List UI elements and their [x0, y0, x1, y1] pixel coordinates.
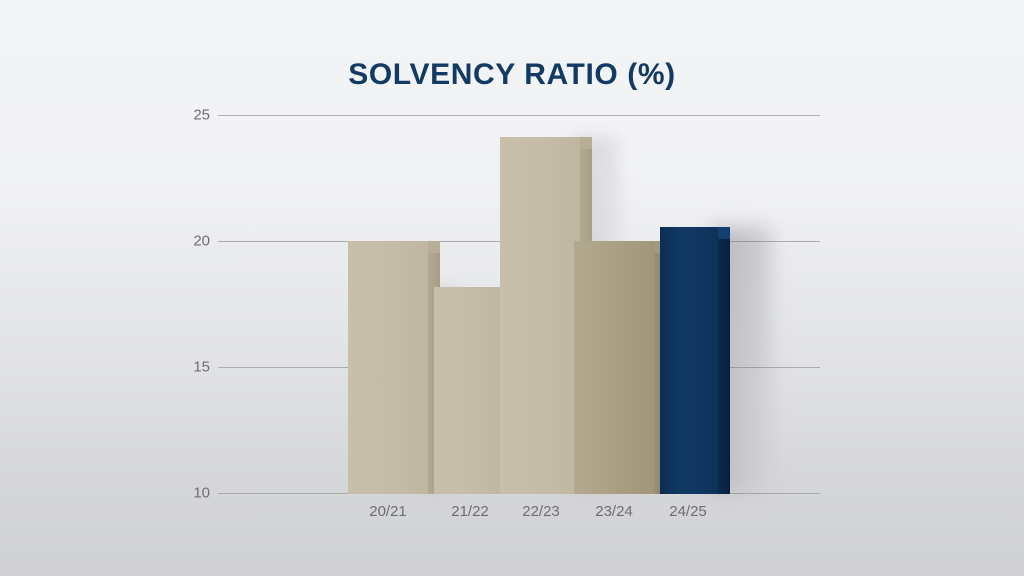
x-tick-label-21-22: 21/22	[451, 503, 489, 520]
bar-face	[660, 227, 718, 494]
plot-area	[218, 115, 820, 493]
bar-24-25[interactable]	[660, 227, 730, 494]
y-tick-label-15: 15	[193, 359, 210, 376]
bar-top	[428, 241, 440, 253]
y-tick-label-10: 10	[193, 485, 210, 502]
bar-top	[718, 227, 730, 239]
bar-20-21[interactable]	[348, 241, 440, 494]
chart-canvas: SOLVENCY RATIO (%) 25 20 15 10	[0, 0, 1024, 576]
x-tick-label-23-24: 23/24	[595, 503, 633, 520]
bar-face	[574, 241, 654, 494]
x-axis: 20/21 21/22 22/23 23/24 24/25	[218, 503, 820, 533]
y-tick-label-20: 20	[193, 233, 210, 250]
y-tick-label-25: 25	[193, 107, 210, 124]
gridline-25	[218, 115, 820, 116]
bar-side	[718, 227, 730, 494]
y-axis: 25 20 15 10	[150, 115, 210, 493]
chart-title: SOLVENCY RATIO (%)	[0, 58, 1024, 92]
x-tick-label-22-23: 22/23	[522, 503, 560, 520]
bar-face	[500, 137, 580, 494]
x-tick-label-20-21: 20/21	[369, 503, 407, 520]
bar-face	[434, 287, 506, 494]
bar-top	[580, 137, 592, 149]
bar-23-24[interactable]	[574, 241, 666, 494]
bar-face	[348, 241, 428, 494]
x-tick-label-24-25: 24/25	[669, 503, 707, 520]
